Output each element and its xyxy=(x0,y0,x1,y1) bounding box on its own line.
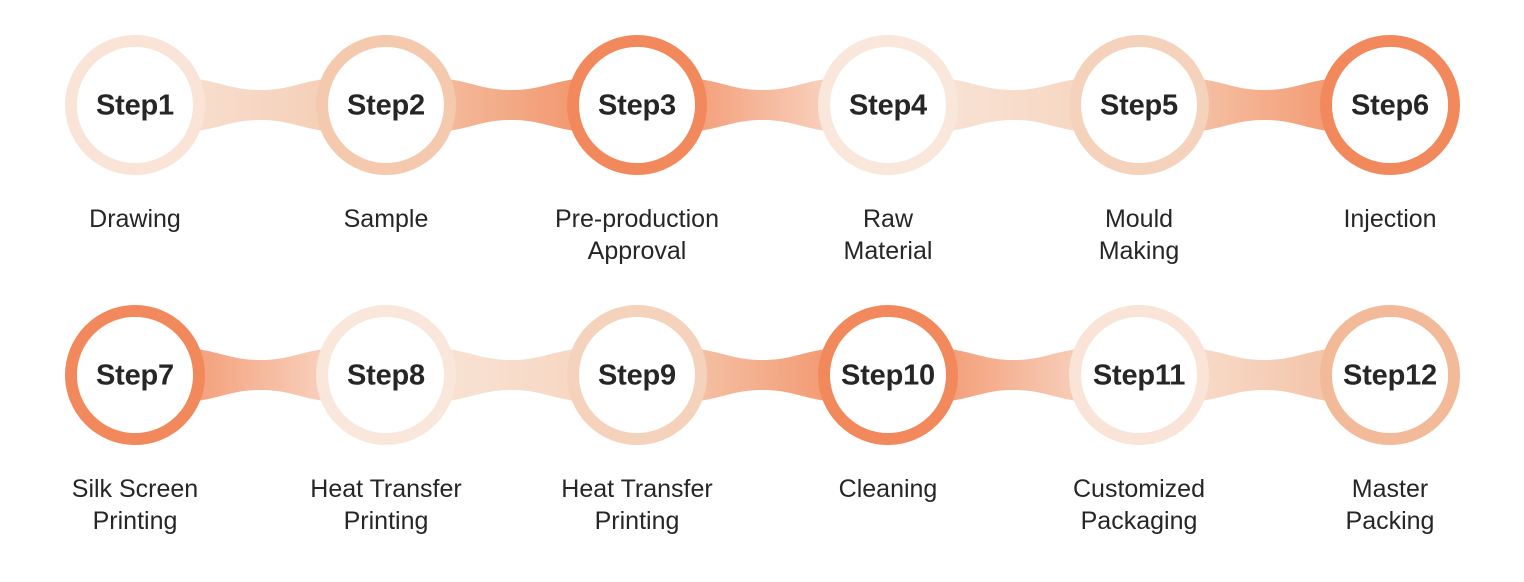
step-label-step7: Silk Screen Printing xyxy=(10,473,260,537)
step-number-step2: Step2 xyxy=(347,92,425,121)
step-number-step8: Step8 xyxy=(347,362,425,391)
step-number-step12: Step12 xyxy=(1343,362,1437,391)
step-number-step10: Step10 xyxy=(841,362,935,391)
step-label-step1: Drawing xyxy=(10,203,260,235)
step-number-step7: Step7 xyxy=(96,362,174,391)
step-label-step12: Master Packing xyxy=(1265,473,1515,537)
step-label-step3: Pre-production Approval xyxy=(512,203,762,267)
step-number-step6: Step6 xyxy=(1351,92,1429,121)
step-number-step9: Step9 xyxy=(598,362,676,391)
step-label-step10: Cleaning xyxy=(763,473,1013,505)
step-label-step6: Injection xyxy=(1265,203,1515,235)
step-number-step4: Step4 xyxy=(849,92,927,121)
step-label-step2: Sample xyxy=(261,203,511,235)
step-number-step11: Step11 xyxy=(1093,362,1185,391)
step-label-step9: Heat Transfer Printing xyxy=(512,473,762,537)
step-label-step8: Heat Transfer Printing xyxy=(261,473,511,537)
step-number-step1: Step1 xyxy=(96,92,174,121)
step-number-step3: Step3 xyxy=(598,92,676,121)
step-label-step5: Mould Making xyxy=(1014,203,1264,267)
step-label-step11: Customized Packaging xyxy=(1014,473,1264,537)
step-number-step5: Step5 xyxy=(1100,92,1178,121)
process-flow-diagram: Step1DrawingStep2SampleStep3Pre-producti… xyxy=(0,0,1524,582)
step-label-step4: Raw Material xyxy=(763,203,1013,267)
